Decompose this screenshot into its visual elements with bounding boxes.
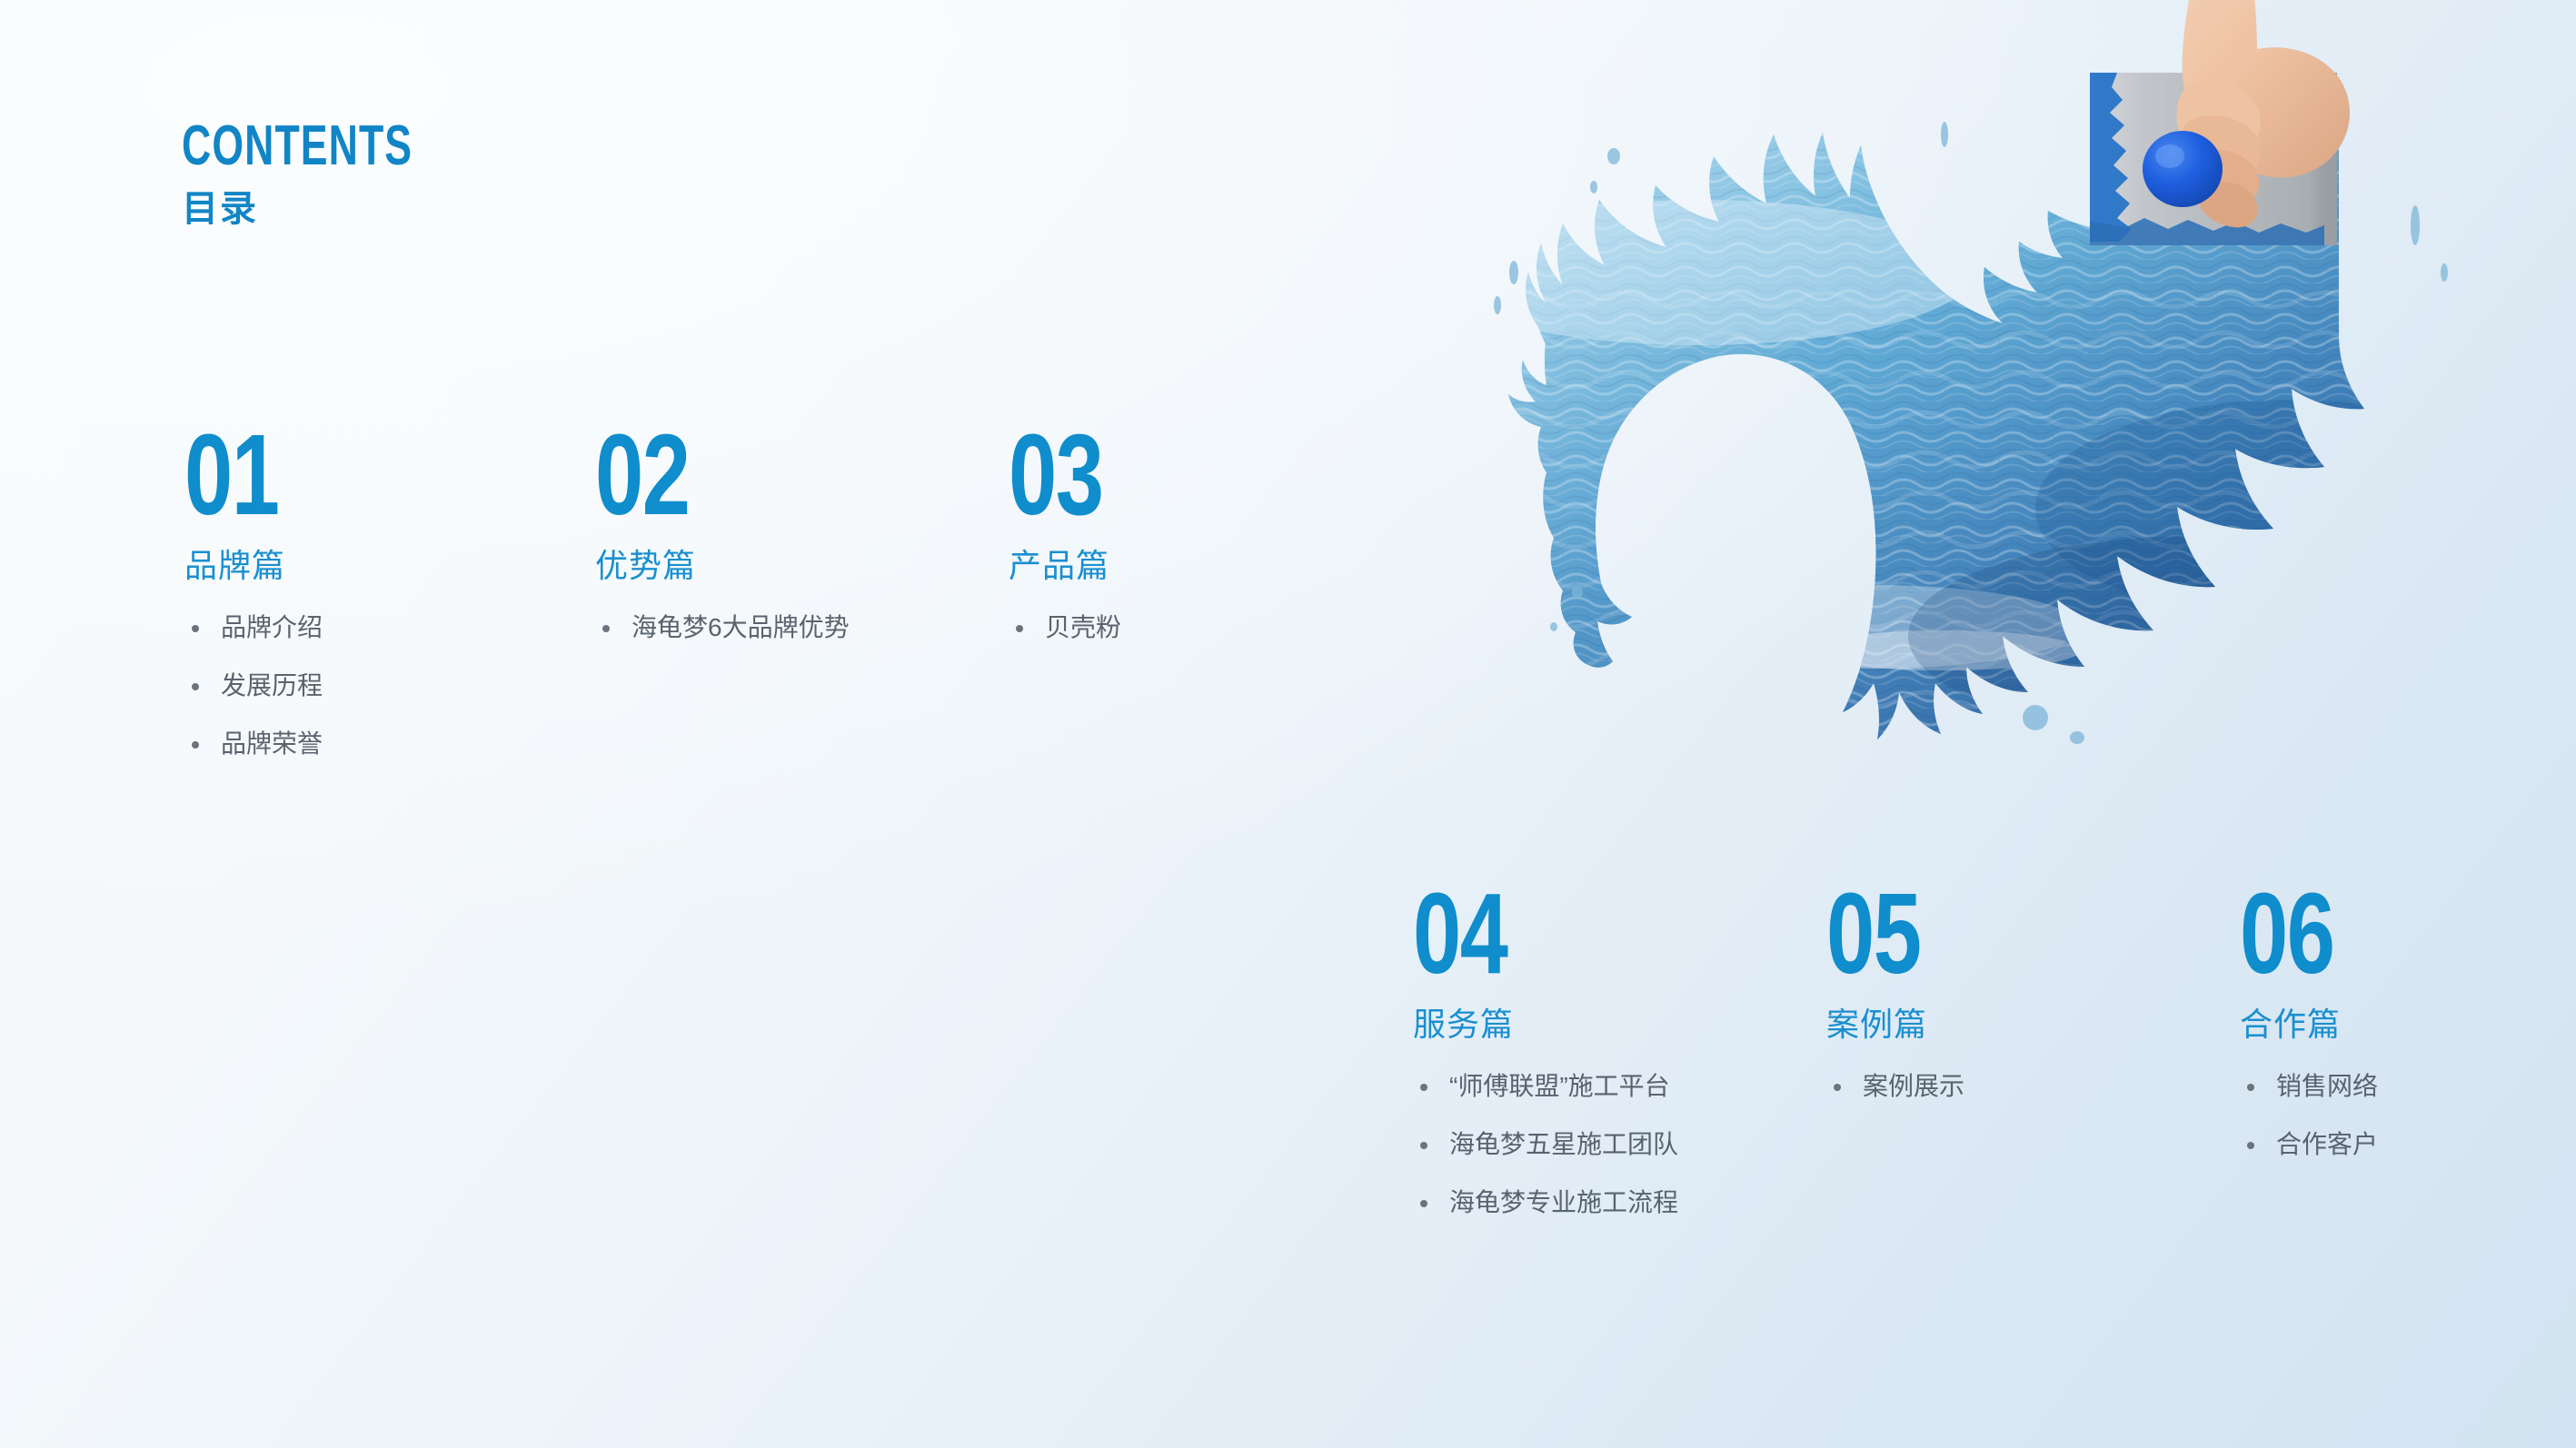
list-item[interactable]: “师傅联盟”施工平台 <box>1413 1074 1678 1099</box>
water-splash-icon <box>1399 91 2576 781</box>
section-item-list: 海龟梦6大品牌优势 <box>595 615 850 640</box>
bullet-icon <box>1016 625 1023 632</box>
list-item-label: 销售网络 <box>2276 1072 2378 1100</box>
trowel-icon <box>2090 73 2337 245</box>
bullet-icon <box>2247 1084 2254 1091</box>
section-title: 服务篇 <box>1413 1008 1678 1041</box>
list-item[interactable]: 发展历程 <box>184 673 323 699</box>
section-item-list: 品牌介绍 发展历程 品牌荣誉 <box>184 615 323 757</box>
section-01[interactable]: 01 品牌篇 品牌介绍 发展历程 品牌荣誉 <box>184 422 323 757</box>
section-item-list: 案例展示 <box>1826 1074 1964 1099</box>
contents-title-en: CONTENTS <box>182 118 413 174</box>
bullet-icon <box>192 625 199 632</box>
list-item[interactable]: 品牌介绍 <box>184 615 323 640</box>
list-item-label: 海龟梦专业施工流程 <box>1449 1188 1678 1216</box>
bullet-icon <box>1420 1142 1427 1149</box>
section-number: 05 <box>1826 881 1932 987</box>
section-item-list: 销售网络 合作客户 <box>2240 1074 2378 1157</box>
trowel-handle-icon <box>2143 131 2223 207</box>
section-title: 案例篇 <box>1826 1008 1964 1041</box>
section-number: 01 <box>184 422 290 528</box>
list-item-label: 海龟梦五星施工团队 <box>1449 1130 1678 1158</box>
list-item-label: “师傅联盟”施工平台 <box>1449 1072 1670 1100</box>
list-item-label: 海龟梦6大品牌优势 <box>632 613 850 641</box>
section-06[interactable]: 06 合作篇 销售网络 合作客户 <box>2240 881 2378 1157</box>
section-item-list: “师傅联盟”施工平台 海龟梦五星施工团队 海龟梦专业施工流程 <box>1413 1074 1678 1215</box>
section-02[interactable]: 02 优势篇 海龟梦6大品牌优势 <box>595 422 850 640</box>
list-item-label: 发展历程 <box>221 671 323 699</box>
section-number: 06 <box>2240 881 2345 987</box>
section-title: 优势篇 <box>595 550 850 582</box>
bullet-icon <box>1420 1200 1427 1207</box>
bullet-icon <box>192 741 199 749</box>
bullet-icon <box>602 625 610 632</box>
water-droplets-icon <box>1494 122 2448 744</box>
list-item-label: 品牌介绍 <box>221 613 323 641</box>
bullet-icon <box>192 683 199 690</box>
list-item-label: 案例展示 <box>1863 1072 1964 1100</box>
list-item[interactable]: 海龟梦6大品牌优势 <box>595 615 850 640</box>
section-04[interactable]: 04 服务篇 “师傅联盟”施工平台 海龟梦五星施工团队 海龟梦专业施工流程 <box>1413 881 1678 1215</box>
list-item[interactable]: 合作客户 <box>2240 1132 2378 1157</box>
hand-icon <box>2177 0 2350 227</box>
section-title: 产品篇 <box>1009 550 1132 582</box>
list-item-label: 贝壳粉 <box>1045 613 1121 641</box>
list-item[interactable]: 海龟梦五星施工团队 <box>1413 1132 1678 1157</box>
list-item[interactable]: 贝壳粉 <box>1009 615 1132 640</box>
slide-canvas: CONTENTS 目录 <box>0 0 2576 1448</box>
paint-residue-icon <box>2090 73 2132 242</box>
bullet-icon <box>2247 1142 2254 1149</box>
section-05[interactable]: 05 案例篇 案例展示 <box>1826 881 1964 1099</box>
list-item[interactable]: 销售网络 <box>2240 1074 2378 1099</box>
list-item[interactable]: 海龟梦专业施工流程 <box>1413 1190 1678 1215</box>
section-title: 品牌篇 <box>184 550 323 582</box>
water-splash-artwork <box>1399 0 2576 890</box>
section-title: 合作篇 <box>2240 1008 2378 1041</box>
list-item-label: 品牌荣誉 <box>221 729 323 758</box>
section-item-list: 贝壳粉 <box>1009 615 1132 640</box>
section-number: 04 <box>1413 881 1615 987</box>
list-item[interactable]: 案例展示 <box>1826 1074 1964 1099</box>
list-item-label: 合作客户 <box>2276 1130 2378 1158</box>
section-number: 03 <box>1009 422 1102 528</box>
section-03[interactable]: 03 产品篇 贝壳粉 <box>1009 422 1132 640</box>
section-number: 02 <box>595 422 788 528</box>
contents-title-cn: 目录 <box>182 191 502 227</box>
list-item[interactable]: 品牌荣誉 <box>184 731 323 757</box>
bullet-icon <box>1834 1084 1841 1091</box>
bullet-icon <box>1420 1084 1427 1091</box>
page-title: CONTENTS 目录 <box>182 118 502 227</box>
